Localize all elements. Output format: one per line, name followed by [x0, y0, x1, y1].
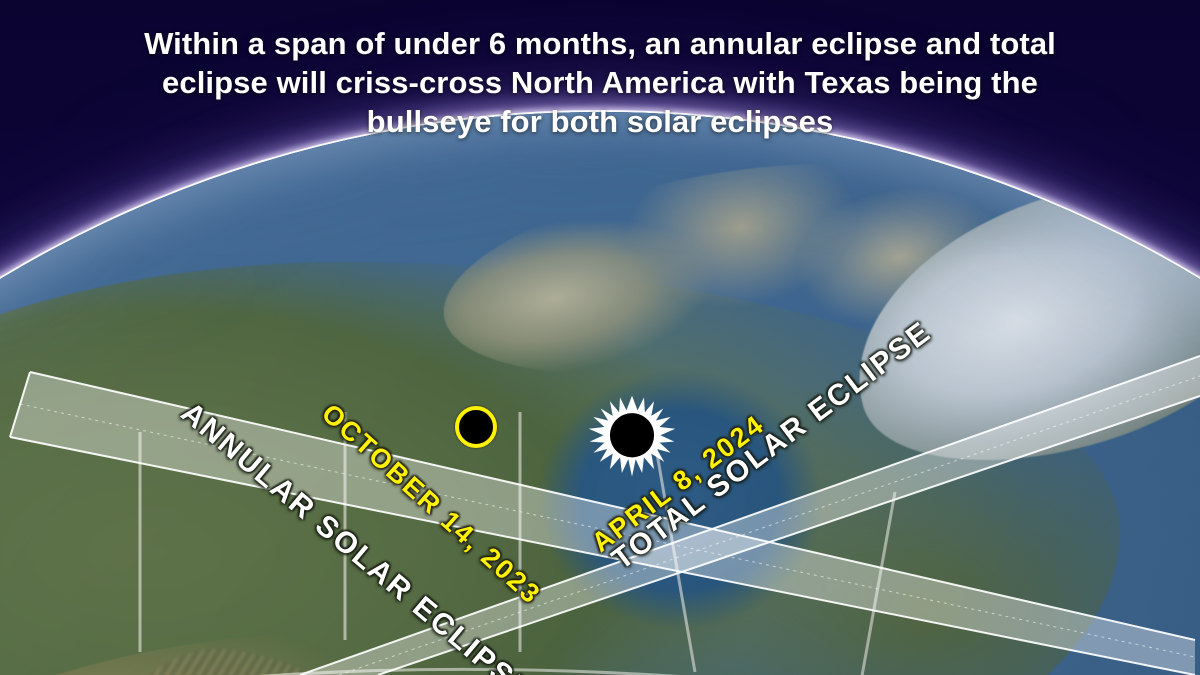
- annular-ring-icon: [455, 406, 497, 448]
- headline-text: Within a span of under 6 months, an annu…: [0, 24, 1200, 141]
- total-corona-icon: [586, 392, 678, 484]
- eclipse-map-graphic: ANNULAR SOLAR ECLIPSE OCTOBER 14, 2023 T…: [0, 0, 1200, 675]
